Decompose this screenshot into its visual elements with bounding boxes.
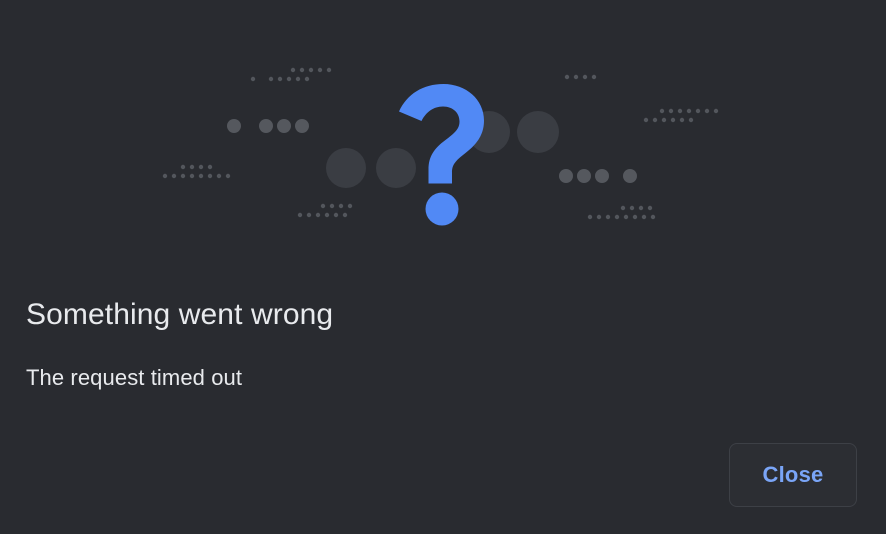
grid-dot: [678, 109, 682, 113]
question-mark-hook: [399, 84, 484, 184]
grid-dot: [199, 165, 203, 169]
grid-dot: [181, 165, 185, 169]
grid-dot: [163, 174, 167, 178]
grid-dot: [648, 206, 652, 210]
grid-dot: [348, 204, 352, 208]
question-mark-dot: [426, 193, 459, 226]
grid-dot: [199, 174, 203, 178]
grid-dot: [705, 109, 709, 113]
grid-dot: [689, 118, 693, 122]
medium-dot: [295, 119, 309, 133]
grid-dot: [642, 215, 646, 219]
close-button[interactable]: Close: [729, 443, 857, 507]
medium-dot: [259, 119, 273, 133]
grid-dot: [662, 118, 666, 122]
grid-dot: [172, 174, 176, 178]
grid-dot: [714, 109, 718, 113]
grid-dot: [208, 174, 212, 178]
grid-dot: [190, 174, 194, 178]
grid-dot: [327, 68, 331, 72]
grid-dot: [291, 68, 295, 72]
medium-dot: [277, 119, 291, 133]
grid-dot: [296, 77, 300, 81]
error-page: Something went wrong The request timed o…: [0, 0, 886, 534]
grid-dot: [309, 68, 313, 72]
grid-dot: [574, 75, 578, 79]
grid-dot: [592, 75, 596, 79]
grid-dot: [606, 215, 610, 219]
grid-dot: [287, 77, 291, 81]
medium-dot: [559, 169, 573, 183]
grid-dot: [226, 174, 230, 178]
grid-dot: [597, 215, 601, 219]
decorative-large-circles: [326, 111, 559, 188]
error-title: Something went wrong: [26, 296, 726, 334]
medium-dot: [227, 119, 241, 133]
grid-dot: [639, 206, 643, 210]
grid-dot: [307, 213, 311, 217]
large-circle: [468, 111, 510, 153]
grid-dot: [339, 204, 343, 208]
question-mark-illustration: [0, 0, 886, 260]
medium-dot: [595, 169, 609, 183]
grid-dot: [621, 206, 625, 210]
action-bar: Close: [729, 443, 857, 507]
grid-dot: [671, 118, 675, 122]
medium-dot: [623, 169, 637, 183]
grid-dot: [615, 215, 619, 219]
large-circle: [326, 148, 366, 188]
grid-dot: [343, 213, 347, 217]
grid-dot: [630, 206, 634, 210]
error-detail: The request timed out: [26, 334, 726, 393]
grid-dot: [190, 165, 194, 169]
grid-dot: [251, 77, 255, 81]
grid-dot: [318, 68, 322, 72]
grid-dot: [588, 215, 592, 219]
grid-dot: [300, 68, 304, 72]
grid-dot: [644, 118, 648, 122]
grid-dot: [321, 204, 325, 208]
grid-dot: [316, 213, 320, 217]
decorative-medium-dots: [227, 119, 637, 183]
grid-dot: [330, 204, 334, 208]
grid-dot: [696, 109, 700, 113]
grid-dot: [583, 75, 587, 79]
decorative-dot-grids: [163, 68, 718, 219]
grid-dot: [680, 118, 684, 122]
grid-dot: [653, 118, 657, 122]
grid-dot: [687, 109, 691, 113]
grid-dot: [565, 75, 569, 79]
grid-dot: [633, 215, 637, 219]
large-circle: [517, 111, 559, 153]
grid-dot: [181, 174, 185, 178]
grid-dot: [269, 77, 273, 81]
grid-dot: [669, 109, 673, 113]
message-block: Something went wrong The request timed o…: [26, 296, 726, 393]
question-mark-icon: [399, 84, 484, 226]
large-circle: [376, 148, 416, 188]
medium-dot: [577, 169, 591, 183]
grid-dot: [305, 77, 309, 81]
grid-dot: [651, 215, 655, 219]
grid-dot: [278, 77, 282, 81]
grid-dot: [217, 174, 221, 178]
grid-dot: [325, 213, 329, 217]
grid-dot: [208, 165, 212, 169]
grid-dot: [298, 213, 302, 217]
grid-dot: [660, 109, 664, 113]
grid-dot: [624, 215, 628, 219]
grid-dot: [334, 213, 338, 217]
